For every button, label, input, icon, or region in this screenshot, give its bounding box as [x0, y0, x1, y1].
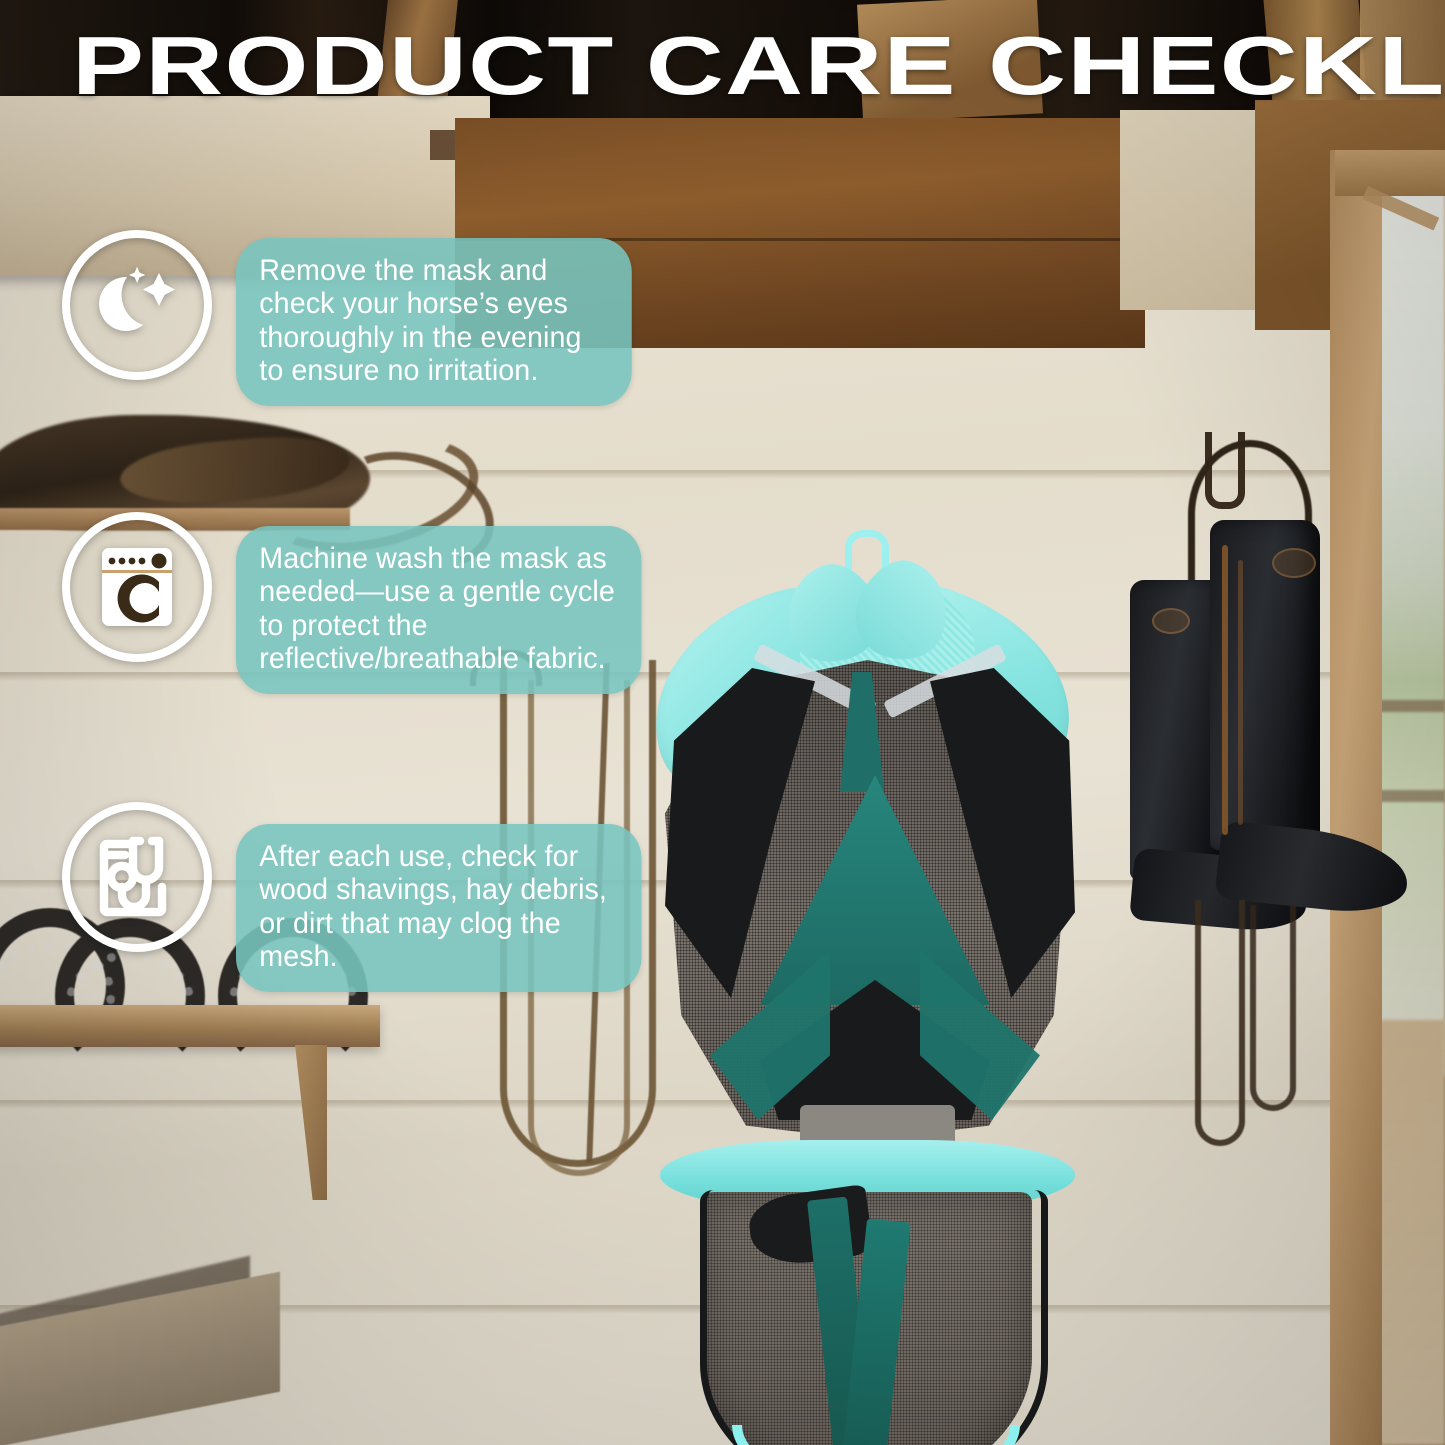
stethoscope-clipboard-icon [62, 802, 212, 952]
infographic-canvas: PRODUCT CARE CHECKLIST Remove the mask a… [0, 0, 1445, 1445]
checklist-item-1: Remove the mask and check your horse’s e… [62, 230, 644, 406]
washing-machine-icon [62, 512, 212, 662]
product-fly-mask [640, 520, 1100, 1300]
moon-stars-icon [62, 230, 212, 380]
checklist-item-2-text: Machine wash the mask as needed—use a ge… [236, 526, 641, 694]
checklist-item-3: After each use, check for wood shavings,… [62, 802, 654, 992]
pasture-view [1378, 176, 1445, 1076]
horseshoe-shelf [0, 1005, 380, 1047]
checklist-item-3-text: After each use, check for wood shavings,… [236, 824, 641, 992]
page-title: PRODUCT CARE CHECKLIST [72, 26, 1445, 106]
checklist-item-1-text: Remove the mask and check your horse’s e… [236, 238, 632, 406]
checklist-item-2: Machine wash the mask as needed—use a ge… [62, 512, 654, 694]
